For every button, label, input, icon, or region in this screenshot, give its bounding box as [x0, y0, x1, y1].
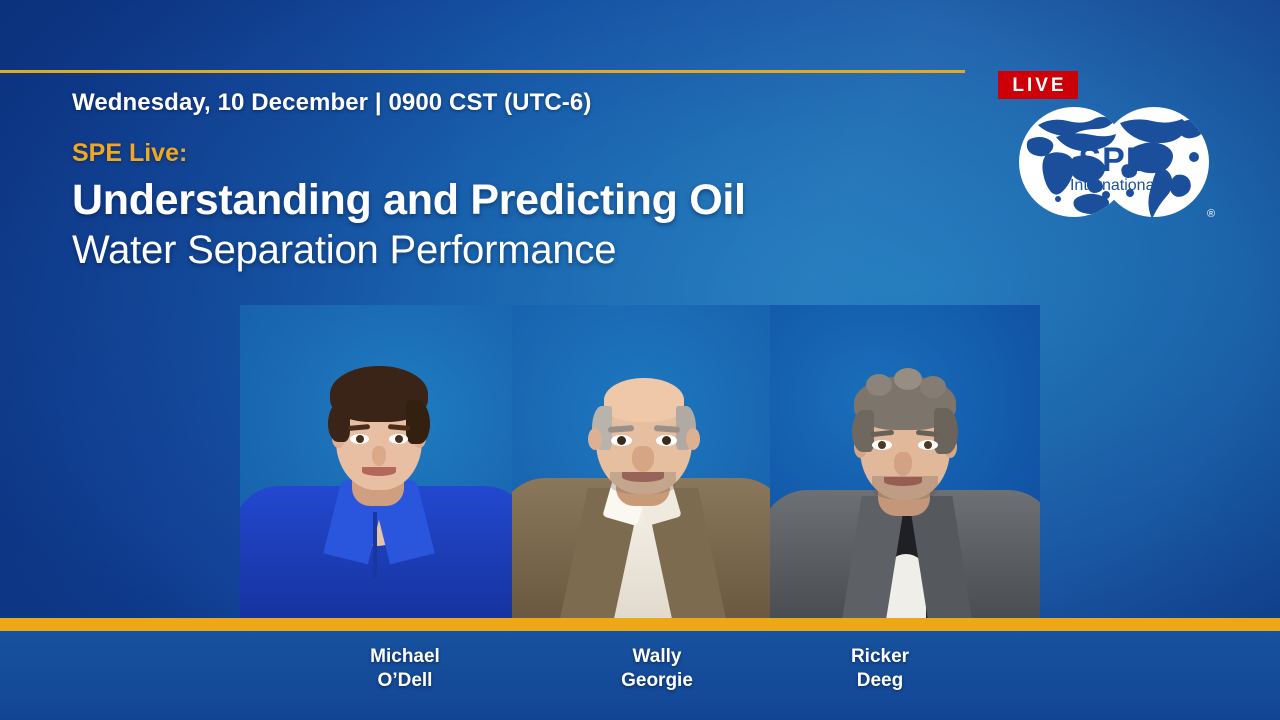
speaker-photo-strip	[240, 305, 1040, 618]
spe-international-logo: SPE International ®	[1008, 105, 1220, 223]
webinar-title-line-2: Water Separation Performance	[72, 226, 952, 274]
svg-text:SPE: SPE	[1078, 141, 1149, 179]
svg-text:International: International	[1070, 177, 1158, 194]
svg-text:®: ®	[1207, 208, 1215, 220]
promo-stage: LIVE	[0, 0, 1280, 720]
series-eyebrow: SPE Live:	[72, 138, 952, 168]
speaker-photo-wally-georgie	[512, 305, 770, 618]
speaker-first-name: Michael	[305, 645, 505, 669]
live-badge: LIVE	[998, 71, 1078, 99]
footer-gold-bar	[0, 618, 1280, 631]
speaker-first-name: Wally	[557, 645, 757, 669]
live-badge-label: LIVE	[1009, 76, 1066, 95]
webinar-title-line-1: Understanding and Predicting Oil	[72, 176, 952, 226]
speaker-last-name: Georgie	[557, 669, 757, 693]
portrait-figure	[770, 305, 1040, 618]
header-divider-rule	[0, 70, 965, 73]
speaker-photo-michael-odell	[240, 305, 520, 618]
speaker-name-1: Wally Georgie	[557, 645, 757, 694]
headline-block: Wednesday, 10 December | 0900 CST (UTC-6…	[72, 88, 952, 274]
portrait-figure	[512, 305, 770, 618]
speaker-first-name: Ricker	[780, 645, 980, 669]
speaker-last-name: O’Dell	[305, 669, 505, 693]
speaker-photo-ricker-deeg	[770, 305, 1040, 618]
speaker-name-0: Michael O’Dell	[305, 645, 505, 694]
speaker-last-name: Deeg	[780, 669, 980, 693]
portrait-figure	[240, 305, 520, 618]
speaker-name-row: Michael O’Dell Wally Georgie Ricker Deeg	[0, 631, 1280, 720]
event-datetime: Wednesday, 10 December | 0900 CST (UTC-6…	[72, 88, 952, 118]
speaker-name-2: Ricker Deeg	[780, 645, 980, 694]
